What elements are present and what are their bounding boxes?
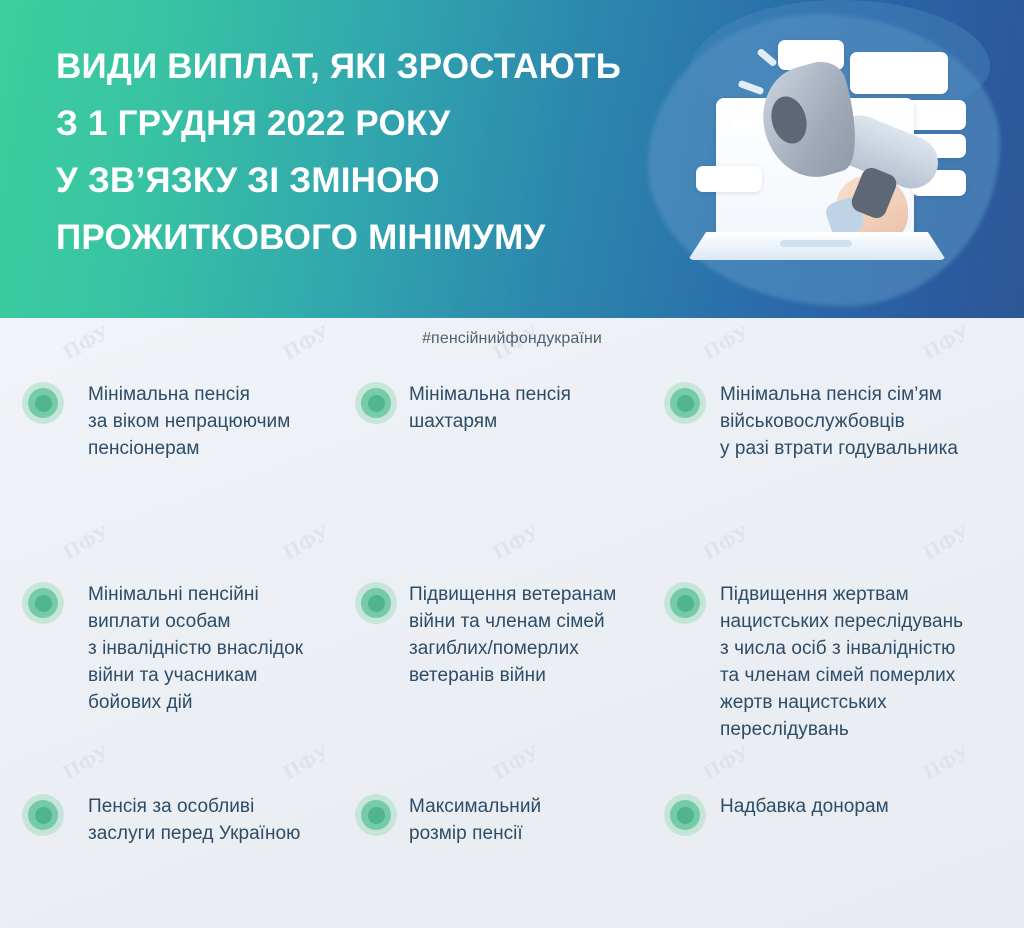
title-line-3: У ЗВ’ЯЗКУ ЗІ ЗМІНОЮ [56,152,676,209]
bullet-dot-icon [22,382,64,424]
list-item-label: Підвищення ветеранам війни та членам сім… [409,580,644,689]
bullet-dot-icon [355,382,397,424]
bullet-dot-icon [22,794,64,836]
sound-line-icon [756,48,777,68]
list-item[interactable]: Надбавка донорам [664,792,1024,912]
sound-line-icon [738,80,765,95]
list-item[interactable]: Максимальний розмір пенсії [355,792,652,912]
list-item-label: Надбавка донорам [720,792,1016,820]
list-item[interactable]: Підвищення жертвам нацистських пересліду… [664,580,1024,792]
laptop-trackpad-icon [780,240,852,247]
list-item[interactable]: Мінімальна пенсія шахтарям [355,380,652,580]
list-item-label: Мінімальна пенсія сім’ям військовослужбо… [720,380,1016,462]
list-item[interactable]: Пенсія за особливі заслуги перед Україно… [22,792,341,912]
header-banner: ВИДИ ВИПЛАТ, ЯКІ ЗРОСТАЮТЬ З 1 ГРУДНЯ 20… [0,0,1024,318]
list-item-label: Мінімальні пенсійні виплати особам з інв… [88,580,333,716]
bullet-dot-icon [355,582,397,624]
title-line-2: З 1 ГРУДНЯ 2022 РОКУ [56,95,676,152]
sound-line-icon [732,122,758,129]
megaphone-laptop-illustration [660,18,996,302]
title-line-1: ВИДИ ВИПЛАТ, ЯКІ ЗРОСТАЮТЬ [56,38,676,95]
list-item[interactable]: Мінімальна пенсія сім’ям військовослужбо… [664,380,1024,580]
list-item[interactable]: Мінімальні пенсійні виплати особам з інв… [22,580,341,792]
bullet-dot-icon [664,382,706,424]
bullet-dot-icon [664,794,706,836]
text-bar-icon [850,52,948,94]
list-item-label: Мінімальна пенсія за віком непрацюючим п… [88,380,333,462]
text-bar-icon [696,166,762,192]
benefits-grid: Мінімальна пенсія за віком непрацюючим п… [0,380,1024,912]
infographic-page: ВИДИ ВИПЛАТ, ЯКІ ЗРОСТАЮТЬ З 1 ГРУДНЯ 20… [0,0,1024,928]
list-item[interactable]: Мінімальна пенсія за віком непрацюючим п… [22,380,341,580]
title-line-4: ПРОЖИТКОВОГО МІНІМУМУ [56,209,676,266]
list-item[interactable]: Підвищення ветеранам війни та членам сім… [355,580,652,792]
list-item-label: Максимальний розмір пенсії [409,792,644,847]
page-title: ВИДИ ВИПЛАТ, ЯКІ ЗРОСТАЮТЬ З 1 ГРУДНЯ 20… [56,38,676,266]
list-item-label: Мінімальна пенсія шахтарям [409,380,644,435]
bullet-dot-icon [664,582,706,624]
content-area: ПФУПФУПФУПФУПФУПФУПФУПФУПФУПФУПФУПФУПФУП… [0,318,1024,928]
bullet-dot-icon [355,794,397,836]
list-item-label: Пенсія за особливі заслуги перед Україно… [88,792,333,847]
hashtag-label: #пенсійнийфондукраїни [0,330,1024,348]
bullet-dot-icon [22,582,64,624]
list-item-label: Підвищення жертвам нацистських пересліду… [720,580,1016,743]
